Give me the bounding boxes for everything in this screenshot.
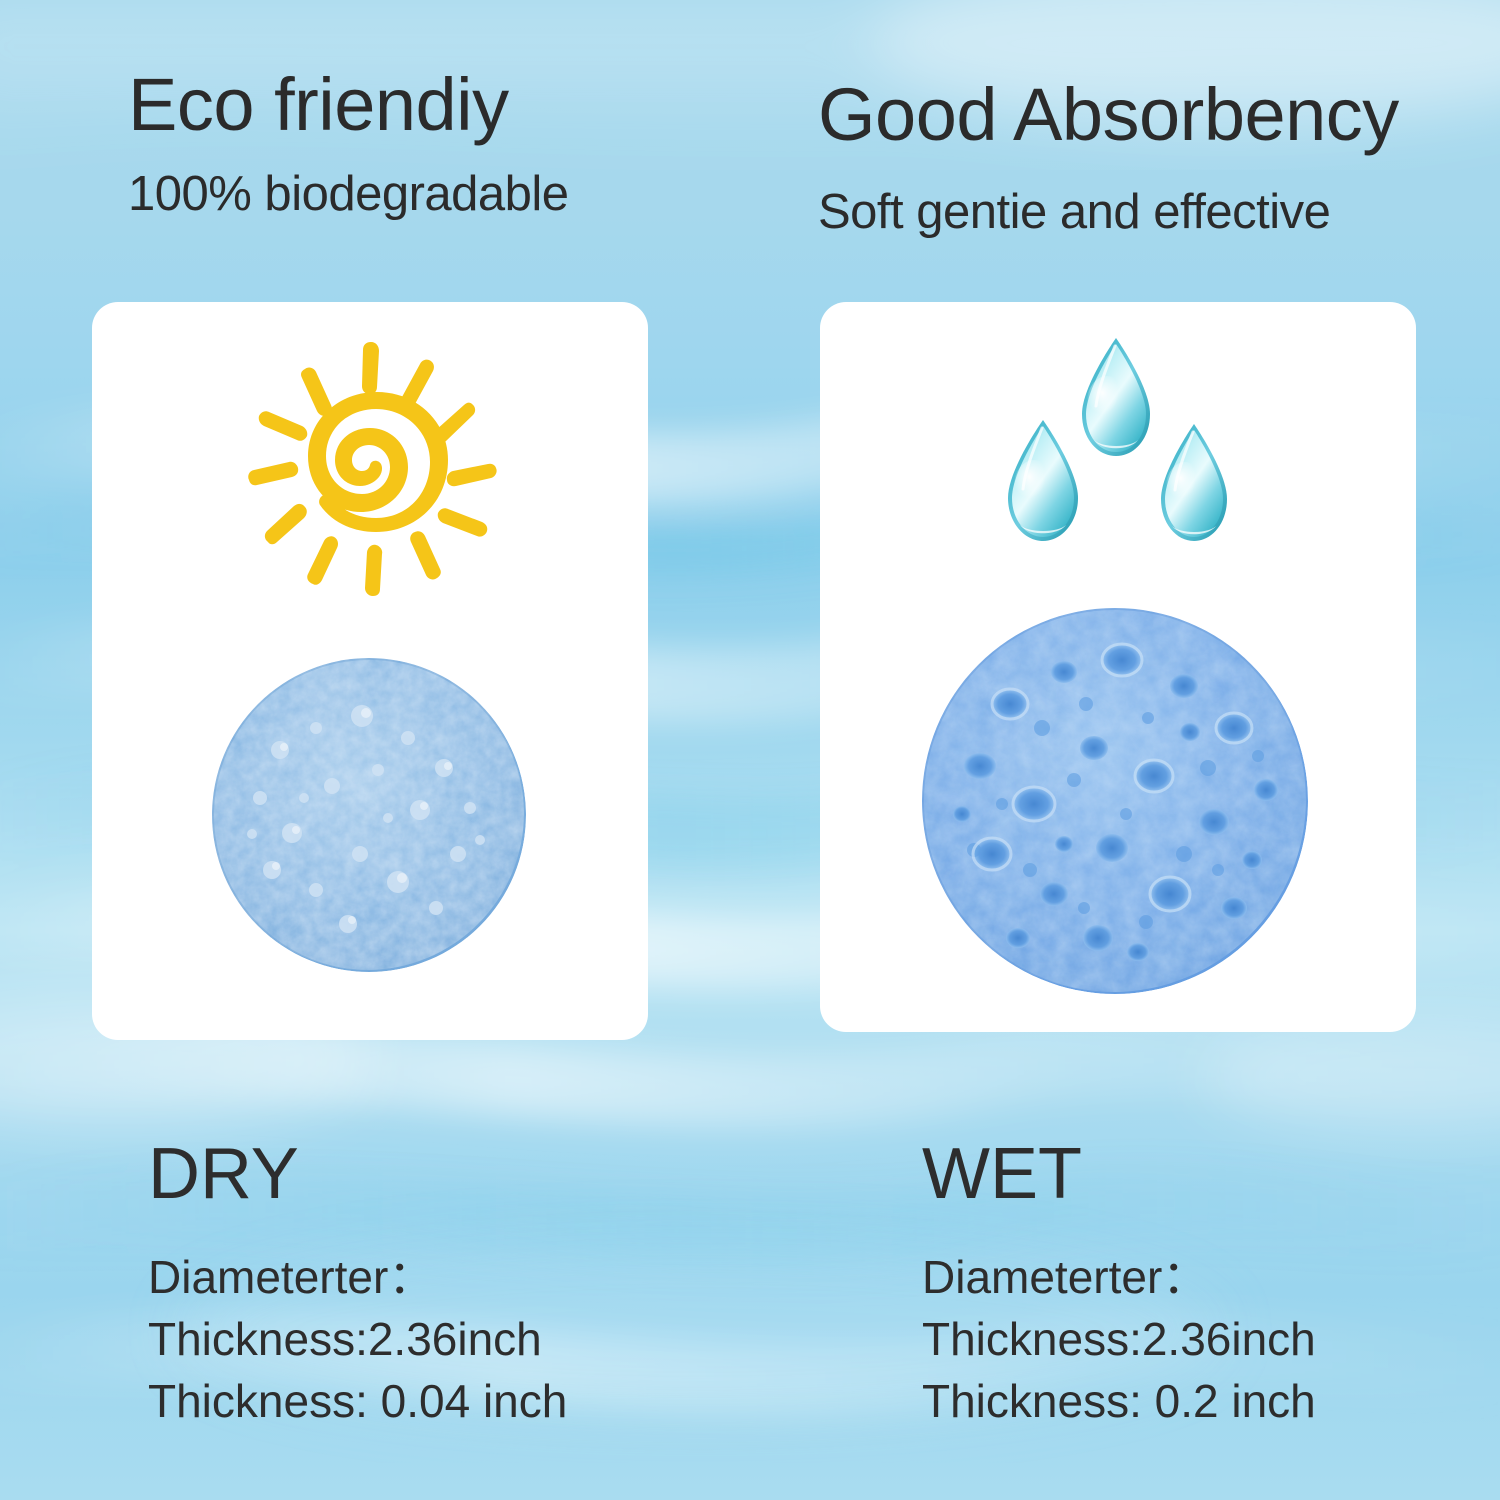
water-droplets-icon xyxy=(986,332,1276,582)
sponge-wet-image xyxy=(922,608,1308,994)
state-label-wet: WET xyxy=(922,1138,1082,1210)
state-label-dry: DRY xyxy=(148,1138,299,1210)
spec-wet-thickness-2: Thickness: 0.2 inch xyxy=(922,1370,1316,1432)
droplet-top xyxy=(1082,338,1150,456)
spec-dry-thickness-2: Thickness: 0.04 inch xyxy=(148,1370,567,1432)
panel-wet-heading: Good Absorbency xyxy=(818,78,1399,152)
spec-dry-diameter: Diameterter： xyxy=(148,1246,567,1308)
infographic-canvas: Eco friendiy 100% biodegradable Good Abs… xyxy=(0,0,1500,1500)
droplet-right xyxy=(1161,424,1227,541)
panel-wet-subheading: Soft gentie and effective xyxy=(818,188,1330,237)
panel-dry-subheading: 100% biodegradable xyxy=(128,170,569,219)
spec-list-wet: Diameterter： Thickness:2.36inch Thicknes… xyxy=(922,1246,1316,1432)
droplet-left xyxy=(1008,420,1078,541)
spec-wet-diameter: Diameterter： xyxy=(922,1246,1316,1308)
panel-dry-heading: Eco friendiy xyxy=(128,68,509,142)
spec-list-dry: Diameterter： Thickness:2.36inch Thicknes… xyxy=(148,1246,567,1432)
sun-icon xyxy=(243,338,507,602)
sponge-dry-image xyxy=(212,658,526,972)
spec-wet-thickness-1: Thickness:2.36inch xyxy=(922,1308,1316,1370)
spec-dry-thickness-1: Thickness:2.36inch xyxy=(148,1308,567,1370)
